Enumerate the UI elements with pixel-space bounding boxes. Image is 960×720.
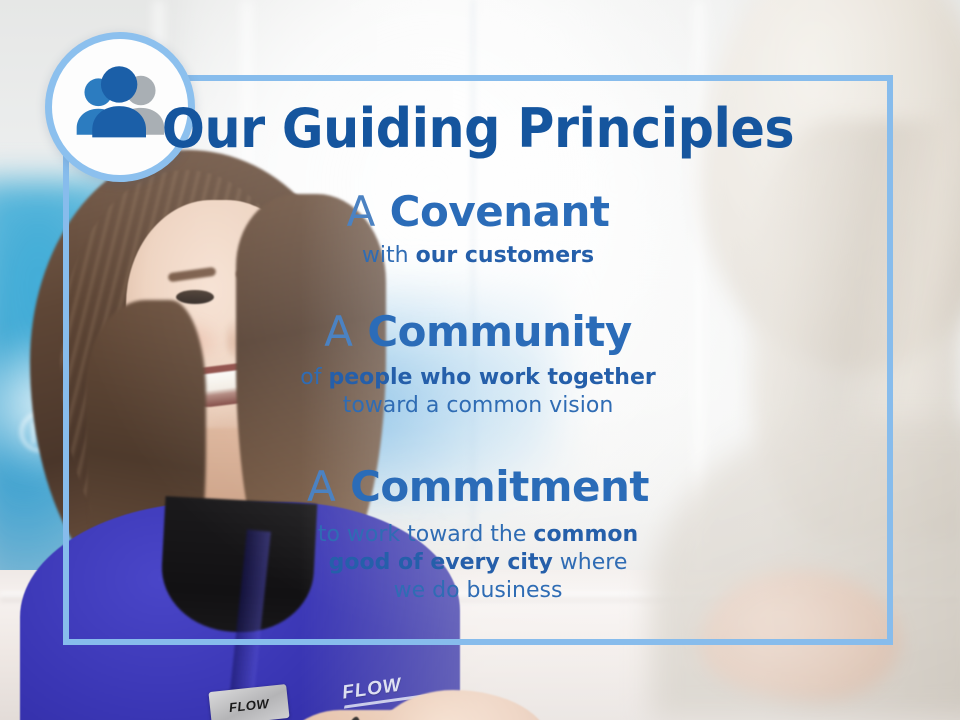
subtext-emphasis: our customers	[416, 243, 595, 268]
principle-block-covenant: A Covenant with our customers	[63, 190, 893, 270]
principle-word: Community	[367, 307, 631, 356]
principle-subtext-line: of people who work together	[63, 364, 893, 392]
principle-article: A	[347, 187, 377, 236]
subtext-run: with	[362, 243, 416, 268]
principle-subtext-line: we do business	[63, 577, 893, 605]
subtext-run: where	[553, 550, 628, 575]
page-title: Our Guiding Principles	[88, 97, 868, 160]
subtext-run: of	[300, 365, 328, 390]
subtext-emphasis: common	[533, 522, 638, 547]
principle-article: A	[307, 462, 337, 511]
subtext-emphasis: people who work together	[328, 365, 655, 390]
principle-subtext: with our customers	[63, 242, 893, 270]
principle-subtext-line: to work toward the common	[63, 521, 893, 549]
principle-block-commitment: A Commitment to work toward the commongo…	[63, 465, 893, 606]
subtext-run: toward a common vision	[343, 393, 614, 418]
guiding-principles-graphic: FLOW FLOW Our Guiding Principles	[0, 0, 960, 720]
subtext-run: we do business	[394, 578, 563, 603]
principle-subtext-line: toward a common vision	[63, 392, 893, 420]
principle-heading: A Community	[63, 310, 893, 354]
principle-subtext: to work toward the commongood of every c…	[63, 521, 893, 605]
subtext-emphasis: good of every city	[329, 550, 553, 575]
name-badge-logo-text: FLOW	[228, 695, 270, 714]
text-content: Our Guiding Principles A Covenant with o…	[63, 75, 893, 645]
principle-heading: A Covenant	[63, 190, 893, 234]
principle-word: Commitment	[350, 462, 649, 511]
principle-subtext-line: with our customers	[63, 242, 893, 270]
principle-article: A	[324, 307, 354, 356]
principle-heading: A Commitment	[63, 465, 893, 509]
subtext-run: to work toward the	[318, 522, 534, 547]
principle-subtext: of people who work togethertoward a comm…	[63, 364, 893, 420]
principle-subtext-line: good of every city where	[63, 549, 893, 577]
principle-word: Covenant	[390, 187, 610, 236]
principle-block-community: A Community of people who work togethert…	[63, 310, 893, 420]
